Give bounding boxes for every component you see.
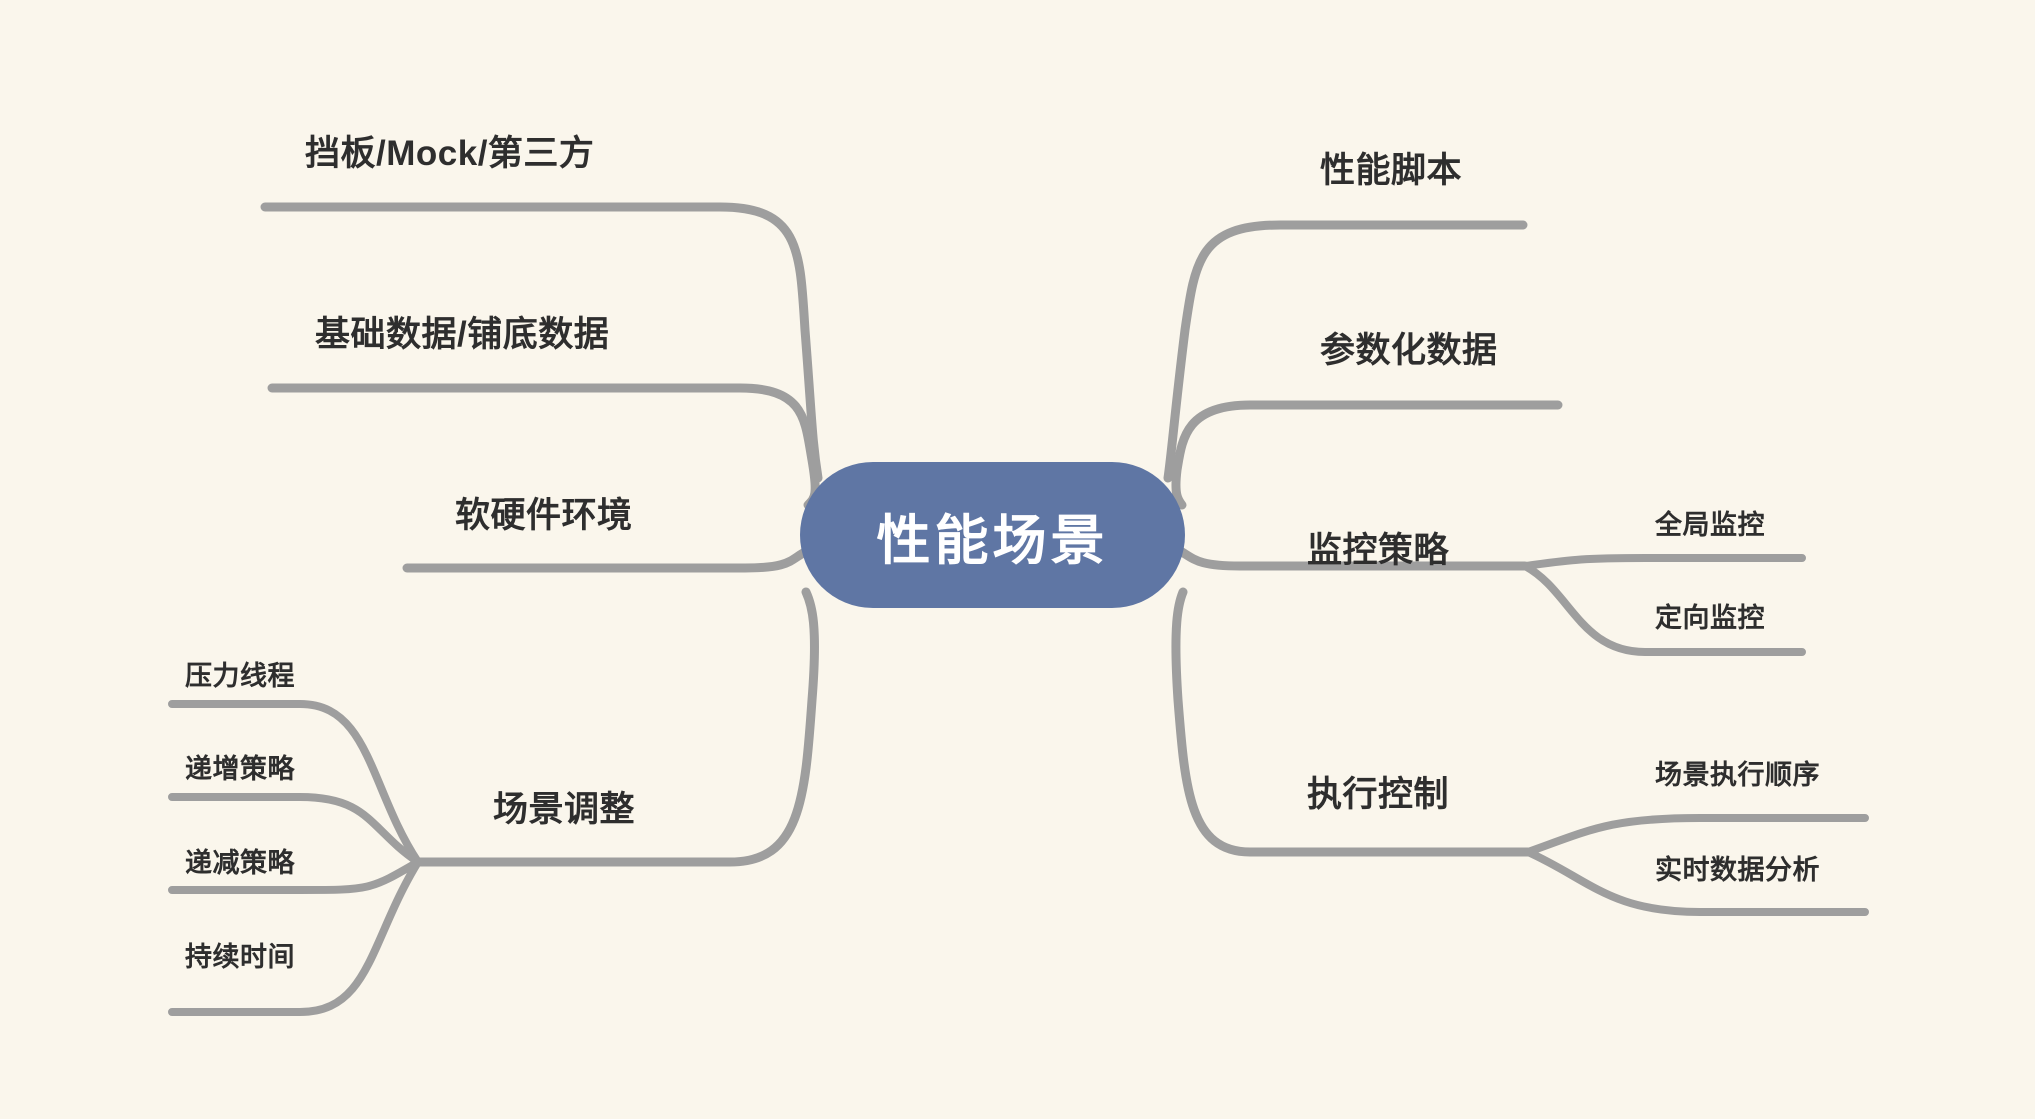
mindmap-canvas: 性能场景 挡板/Mock/第三方 基础数据/铺底数据 软硬件环境 场景调整 压力… (0, 0, 2035, 1119)
subbranch-label-left-4-4[interactable]: 持续时间 (185, 944, 295, 971)
subbranch-line-right-4-1 (1528, 818, 1865, 852)
central-node-label: 性能场景 (877, 496, 1109, 575)
subbranch-label-right-3-2[interactable]: 定向监控 (1655, 605, 1765, 632)
subbranch-label-left-4-3[interactable]: 递减策略 (185, 850, 295, 877)
branch-label-left-4[interactable]: 场景调整 (493, 792, 635, 827)
branch-label-right-2[interactable]: 参数化数据 (1320, 333, 1498, 368)
central-node[interactable]: 性能场景 (800, 462, 1185, 608)
branch-label-left-1[interactable]: 挡板/Mock/第三方 (305, 136, 594, 171)
branch-label-right-4[interactable]: 执行控制 (1307, 777, 1449, 812)
subbranch-label-right-4-2[interactable]: 实时数据分析 (1655, 857, 1820, 884)
branch-label-right-1[interactable]: 性能脚本 (1320, 153, 1462, 188)
branch-line-left-3 (407, 552, 805, 568)
subbranch-line-right-3-1 (1525, 558, 1802, 566)
subbranch-label-left-4-1[interactable]: 压力线程 (185, 663, 295, 690)
branch-line-left-2 (272, 388, 815, 505)
branch-label-left-2[interactable]: 基础数据/铺底数据 (315, 317, 609, 352)
subbranch-label-left-4-2[interactable]: 递增策略 (185, 756, 295, 783)
subbranch-label-right-4-1[interactable]: 场景执行顺序 (1655, 762, 1820, 789)
branch-label-right-3[interactable]: 监控策略 (1307, 533, 1449, 568)
branch-label-left-3[interactable]: 软硬件环境 (455, 498, 633, 533)
branch-line-right-2 (1176, 405, 1558, 505)
subbranch-label-right-3-1[interactable]: 全局监控 (1655, 512, 1765, 539)
